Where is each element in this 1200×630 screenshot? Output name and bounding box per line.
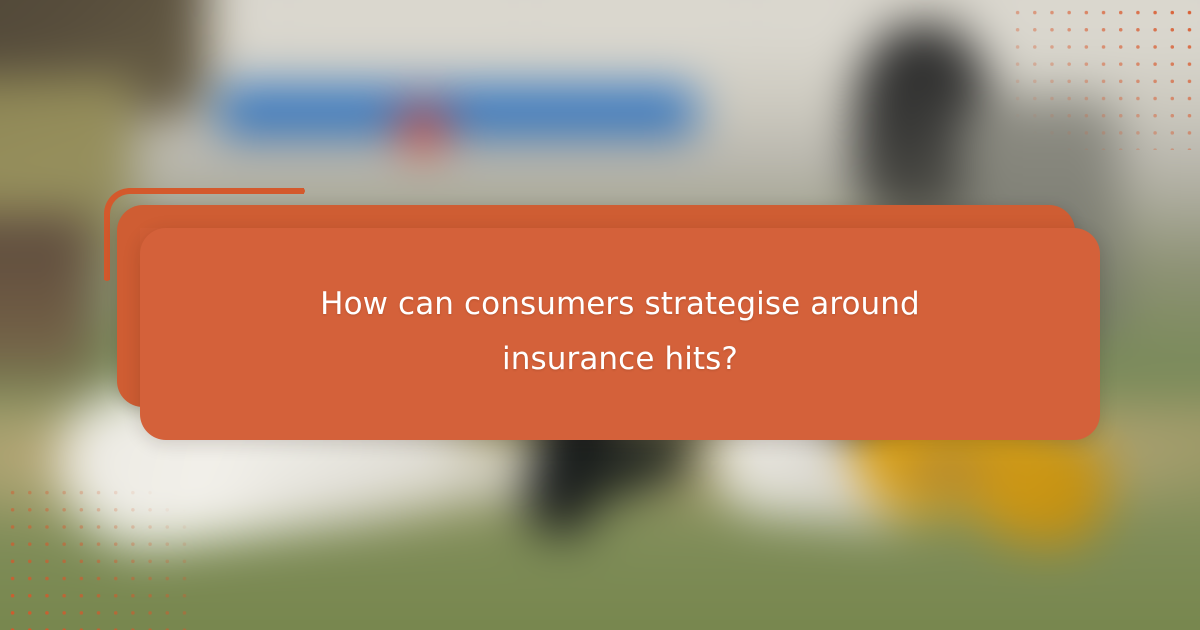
outline-cap-horizontal bbox=[297, 188, 305, 194]
advertising-board bbox=[218, 87, 695, 135]
share-card-canvas: How can consumers strategise around insu… bbox=[0, 0, 1200, 630]
headline-line-2: insurance hits? bbox=[502, 341, 738, 377]
question-card-front[interactable]: How can consumers strategise around insu… bbox=[140, 228, 1100, 440]
dugout-wall-dark bbox=[0, 214, 91, 384]
page-title: How can consumers strategise around insu… bbox=[210, 277, 1030, 391]
ball-logo bbox=[399, 106, 448, 151]
headline-line-1: How can consumers strategise around bbox=[320, 286, 920, 322]
outline-cap-vertical bbox=[104, 273, 110, 281]
foreground-grass bbox=[0, 569, 1200, 630]
dirt-puff bbox=[876, 437, 1014, 501]
